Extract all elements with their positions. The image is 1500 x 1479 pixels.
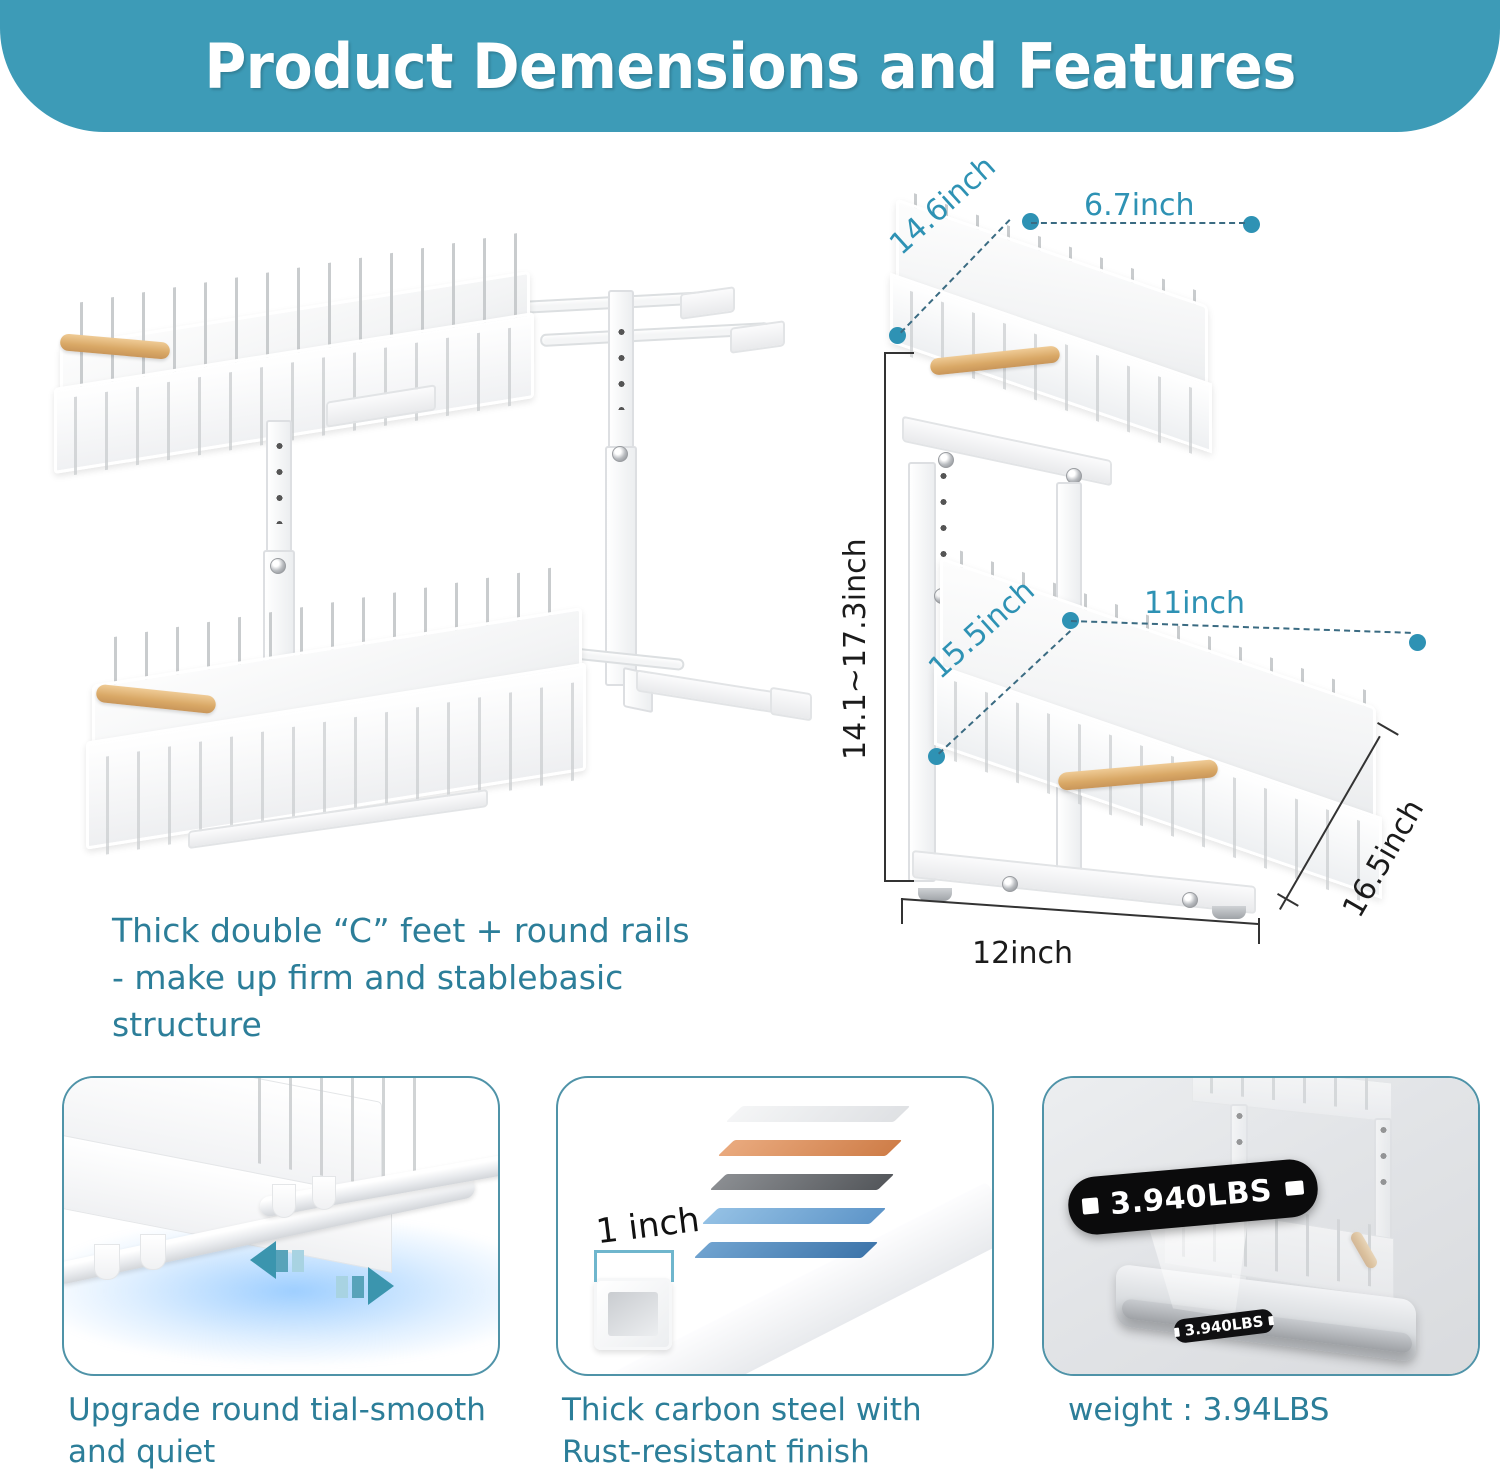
scale-tare-icon: [1268, 1315, 1274, 1325]
panel-weight: 3.940LBS 3.940LBS: [1042, 1076, 1480, 1376]
right-post-lower: [605, 446, 637, 686]
left-post-holes: [276, 442, 283, 524]
scale-up-icon: [1174, 1327, 1180, 1337]
left-caption-line-1: Thick double “C” feet + round rails: [112, 908, 752, 955]
weight-value-large: 3.940LBS: [1109, 1173, 1274, 1222]
ghost-post-holes-right: [1380, 1126, 1387, 1202]
left-caption-line-2: - make up firm and stablebasic structure: [112, 955, 752, 1049]
panel-slide-rail: [62, 1076, 500, 1376]
dim-base-foot-right: [1212, 906, 1246, 919]
steel-layer-gray: [710, 1174, 895, 1190]
header-banner: Product Demensions and Features: [0, 0, 1500, 132]
steel-layer-copper: [718, 1140, 903, 1156]
dim-basewidth-tick-right: [1258, 918, 1260, 944]
panel-2-caption-line-1: Thick carbon steel with: [562, 1390, 982, 1432]
infographic-page: Product Demensions and Features: [0, 0, 1500, 1479]
dim-label-bottom-width: 11inch: [1144, 586, 1245, 621]
scale-tare-large-icon: [1285, 1180, 1304, 1196]
left-product-illustration: [40, 250, 820, 890]
steel-measure-label: 1 inch: [594, 1200, 702, 1252]
scale-unit-icon: [1081, 1197, 1098, 1214]
steel-layer-blue-dark: [694, 1242, 879, 1258]
right-post-bolt: [612, 446, 628, 462]
dim-height-bracket-bottom-tick: [884, 880, 914, 882]
panel-1-caption-line-2: and quiet: [68, 1432, 488, 1474]
dim-label-height: 14.1~17.3inch: [838, 538, 873, 760]
left-diagram-caption: Thick double “C” feet + round rails - ma…: [112, 908, 752, 1049]
dim-dot-bottom-width-right: [1409, 634, 1426, 651]
panel-carbon-steel: 1 inch: [556, 1076, 994, 1376]
dim-base-bolt-right: [1182, 892, 1198, 908]
rail-c-hook-3: [272, 1184, 296, 1218]
rail-c-hook-4: [312, 1176, 336, 1210]
right-post-holes: [618, 328, 625, 410]
dim-label-base-width: 12inch: [972, 936, 1073, 971]
steel-layer-white: [726, 1106, 911, 1122]
page-title: Product Demensions and Features: [204, 30, 1295, 103]
steel-tube-hollow: [608, 1292, 658, 1336]
dim-basewidth-tick-left: [901, 898, 903, 924]
steel-measure-bracket: [594, 1250, 674, 1282]
rail-c-hook-2: [140, 1234, 166, 1270]
rail-c-hook-1: [94, 1244, 120, 1280]
panel-2-caption-line-2: Rust-resistant finish: [562, 1432, 982, 1474]
dim-frame-bolt-left: [938, 452, 954, 468]
left-post-bolt: [270, 558, 286, 574]
dim-height-bracket-vertical: [884, 352, 886, 882]
dim-label-top-width: 6.7inch: [1084, 188, 1195, 223]
dim-height-bracket-top-tick: [884, 352, 914, 354]
steel-layer-blue: [702, 1208, 887, 1224]
panel-slide-rail-caption: Upgrade round tial-smooth and quiet: [68, 1390, 488, 1474]
right-c-foot-end: [770, 687, 812, 722]
dim-base-bar: [912, 850, 1256, 914]
dim-dot-top-width-right: [1243, 216, 1260, 233]
dim-frame-post-left: [908, 462, 936, 882]
panel-carbon-steel-caption: Thick carbon steel with Rust-resistant f…: [562, 1390, 982, 1474]
panel-3-caption-line-1: weight : 3.94LBS: [1068, 1390, 1488, 1432]
panel-weight-caption: weight : 3.94LBS: [1068, 1390, 1488, 1432]
panel-1-caption-line-1: Upgrade round tial-smooth: [68, 1390, 488, 1432]
dim-base-bolt-left: [1002, 876, 1018, 892]
